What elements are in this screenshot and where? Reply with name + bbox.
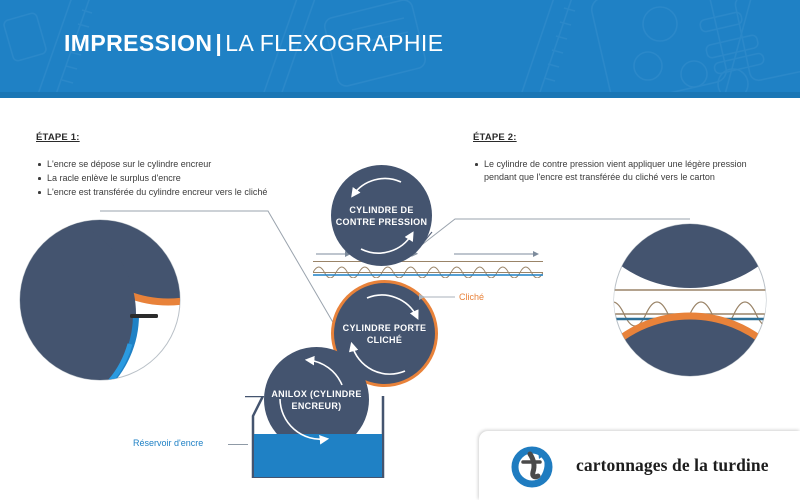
reservoir-leader-line: [228, 444, 248, 445]
page-title-light: LA FLEXOGRAPHIE: [225, 30, 443, 56]
step-2-bullet-list: Le cylindre de contre pression vient app…: [473, 158, 763, 184]
page-title: IMPRESSION|LA FLEXOGRAPHIE: [64, 30, 443, 57]
list-item: La racle enlève le surplus d'encre: [36, 172, 336, 185]
step-1-title: ÉTAPE 1:: [36, 132, 336, 143]
page-title-separator: |: [212, 30, 225, 56]
rotation-arrow-icon: [331, 165, 432, 266]
list-item: L'encre se dépose sur le cylindre encreu…: [36, 158, 336, 171]
step-1-block: ÉTAPE 1: L'encre se dépose sur le cylind…: [36, 132, 336, 200]
cylinder-anilox[interactable]: ANILOX (CYLINDRE ENCREUR): [264, 347, 369, 452]
page-title-strong: IMPRESSION: [64, 30, 212, 56]
cylinder-contre-pression[interactable]: CYLINDRE DE CONTRE PRESSION: [331, 165, 432, 266]
step-2-block: ÉTAPE 2: Le cylindre de contre pression …: [473, 132, 763, 185]
detail-view-board-nip: [612, 222, 768, 378]
company-logo-box: cartonnages de la turdine: [479, 431, 800, 500]
rotation-arrow-icon: [264, 347, 369, 452]
list-item: Le cylindre de contre pression vient app…: [473, 158, 763, 184]
step-2-title: ÉTAPE 2:: [473, 132, 763, 143]
slide-root: IMPRESSION|LA FLEXOGRAPHIE ÉTAPE 1: L'en…: [0, 0, 800, 500]
cliche-label: Cliché: [459, 292, 484, 302]
step-1-bullet-list: L'encre se dépose sur le cylindre encreu…: [36, 158, 336, 199]
list-item: L'encre est transférée du cylindre encre…: [36, 186, 336, 199]
company-name: cartonnages de la turdine: [576, 455, 769, 476]
header-bottom-strip: [0, 92, 800, 98]
turdine-logo-icon: [508, 442, 556, 490]
reservoir-label: Réservoir d'encre: [133, 438, 203, 448]
slide-header: IMPRESSION|LA FLEXOGRAPHIE: [0, 0, 800, 98]
detail-view-anilox-plate: [18, 218, 182, 382]
